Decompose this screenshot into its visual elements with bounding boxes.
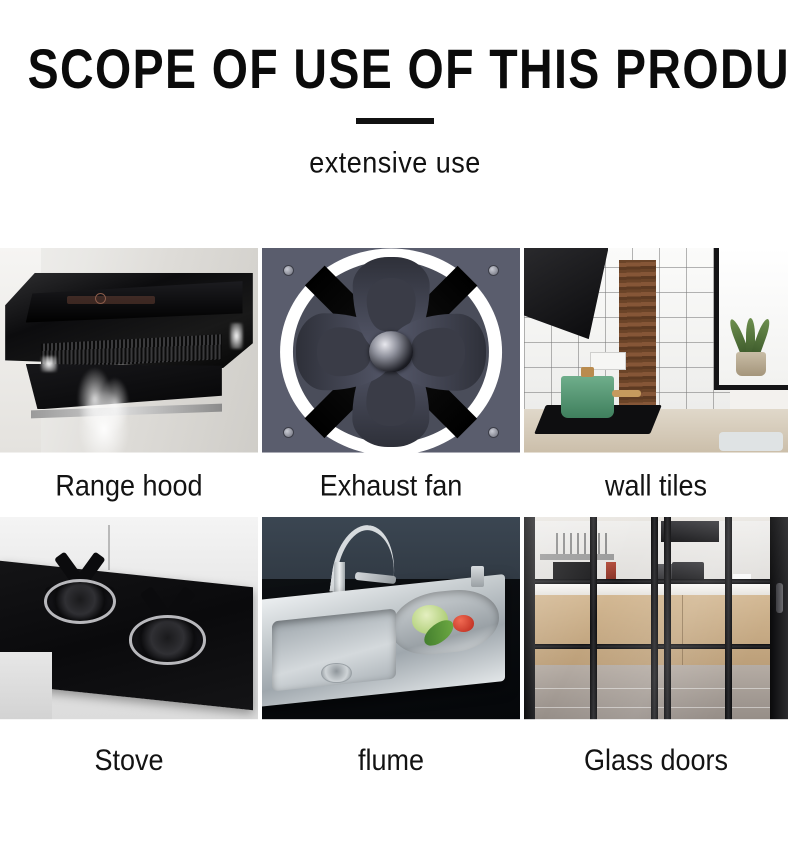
potted-plant: [730, 323, 772, 377]
stove-burner-right: [129, 615, 206, 664]
cabinet-seam: [682, 595, 683, 665]
plant-pot: [736, 352, 766, 377]
caption-exhaust-fan: Exhaust fan: [262, 453, 520, 520]
grid-item-exhaust-fan[interactable]: Exhaust fan: [262, 248, 520, 517]
fan-screw-icon: [283, 265, 294, 276]
burner-ring: [44, 579, 116, 624]
flume-photo: [262, 517, 520, 722]
page-header: SCOPE OF USE OF THIS PRODUCT extensive u…: [0, 0, 790, 176]
glass-mullion-vertical: [651, 517, 658, 722]
green-saucepan: [561, 376, 614, 417]
door-handle[interactable]: [776, 583, 783, 614]
use-case-grid: Range hood Exhaust f: [0, 248, 790, 792]
counter-left: [0, 652, 52, 722]
title-divider: [356, 118, 434, 124]
grid-row-2: Stove flume: [0, 517, 790, 792]
grid-item-glass-doors[interactable]: Glass doors: [524, 517, 788, 792]
steam-plume: [67, 362, 144, 455]
page-subtitle: extensive use: [0, 146, 790, 179]
caption-stove: Stove: [0, 719, 258, 795]
hood-knob-icon: [95, 293, 106, 304]
caption-range-hood: Range hood: [0, 453, 258, 520]
hood-light-glow-right: [230, 323, 243, 350]
hood-light-glow-left: [41, 356, 56, 373]
fan-hub-cap: [369, 331, 413, 372]
grid-item-flume[interactable]: flume: [262, 517, 520, 792]
sink-drain: [321, 663, 351, 683]
saucepan-handle: [612, 390, 642, 397]
caption-flume: flume: [262, 719, 520, 795]
soap-dispenser: [471, 566, 484, 587]
glass-mullion-vertical: [664, 517, 671, 722]
saucepan-lid-knob: [581, 367, 594, 377]
caption-glass-doors: Glass doors: [524, 719, 788, 795]
grid-item-range-hood[interactable]: Range hood: [0, 248, 258, 517]
hood-control-panel: [67, 296, 155, 304]
fan-screw-icon: [488, 265, 499, 276]
page-title: SCOPE OF USE OF THIS PRODUCT: [28, 39, 763, 99]
glass-doors-photo: [524, 517, 788, 722]
wall-shelf: [540, 554, 614, 560]
caption-wall-tiles: wall tiles: [524, 453, 788, 520]
exhaust-fan-photo: [262, 248, 520, 455]
glass-mullion-vertical: [590, 517, 597, 722]
glass-mullion-vertical: [725, 517, 732, 722]
stove-burner-left: [44, 579, 116, 624]
tomato: [453, 615, 474, 631]
burner-ring: [129, 615, 206, 664]
stove-photo: [0, 517, 258, 722]
wood-panel: [619, 260, 656, 409]
grid-item-wall-tiles[interactable]: wall tiles: [524, 248, 788, 517]
wall-tiles-photo: [524, 248, 788, 455]
door-frame-left: [524, 517, 535, 722]
grid-item-stove[interactable]: Stove: [0, 517, 258, 792]
wall-socket: [590, 352, 626, 371]
range-hood-photo: [0, 248, 258, 455]
sink-edge: [719, 432, 782, 451]
door-frame-right: [770, 517, 788, 722]
stove-back-rail: [108, 525, 110, 570]
grid-row-1: Range hood Exhaust f: [0, 248, 790, 517]
